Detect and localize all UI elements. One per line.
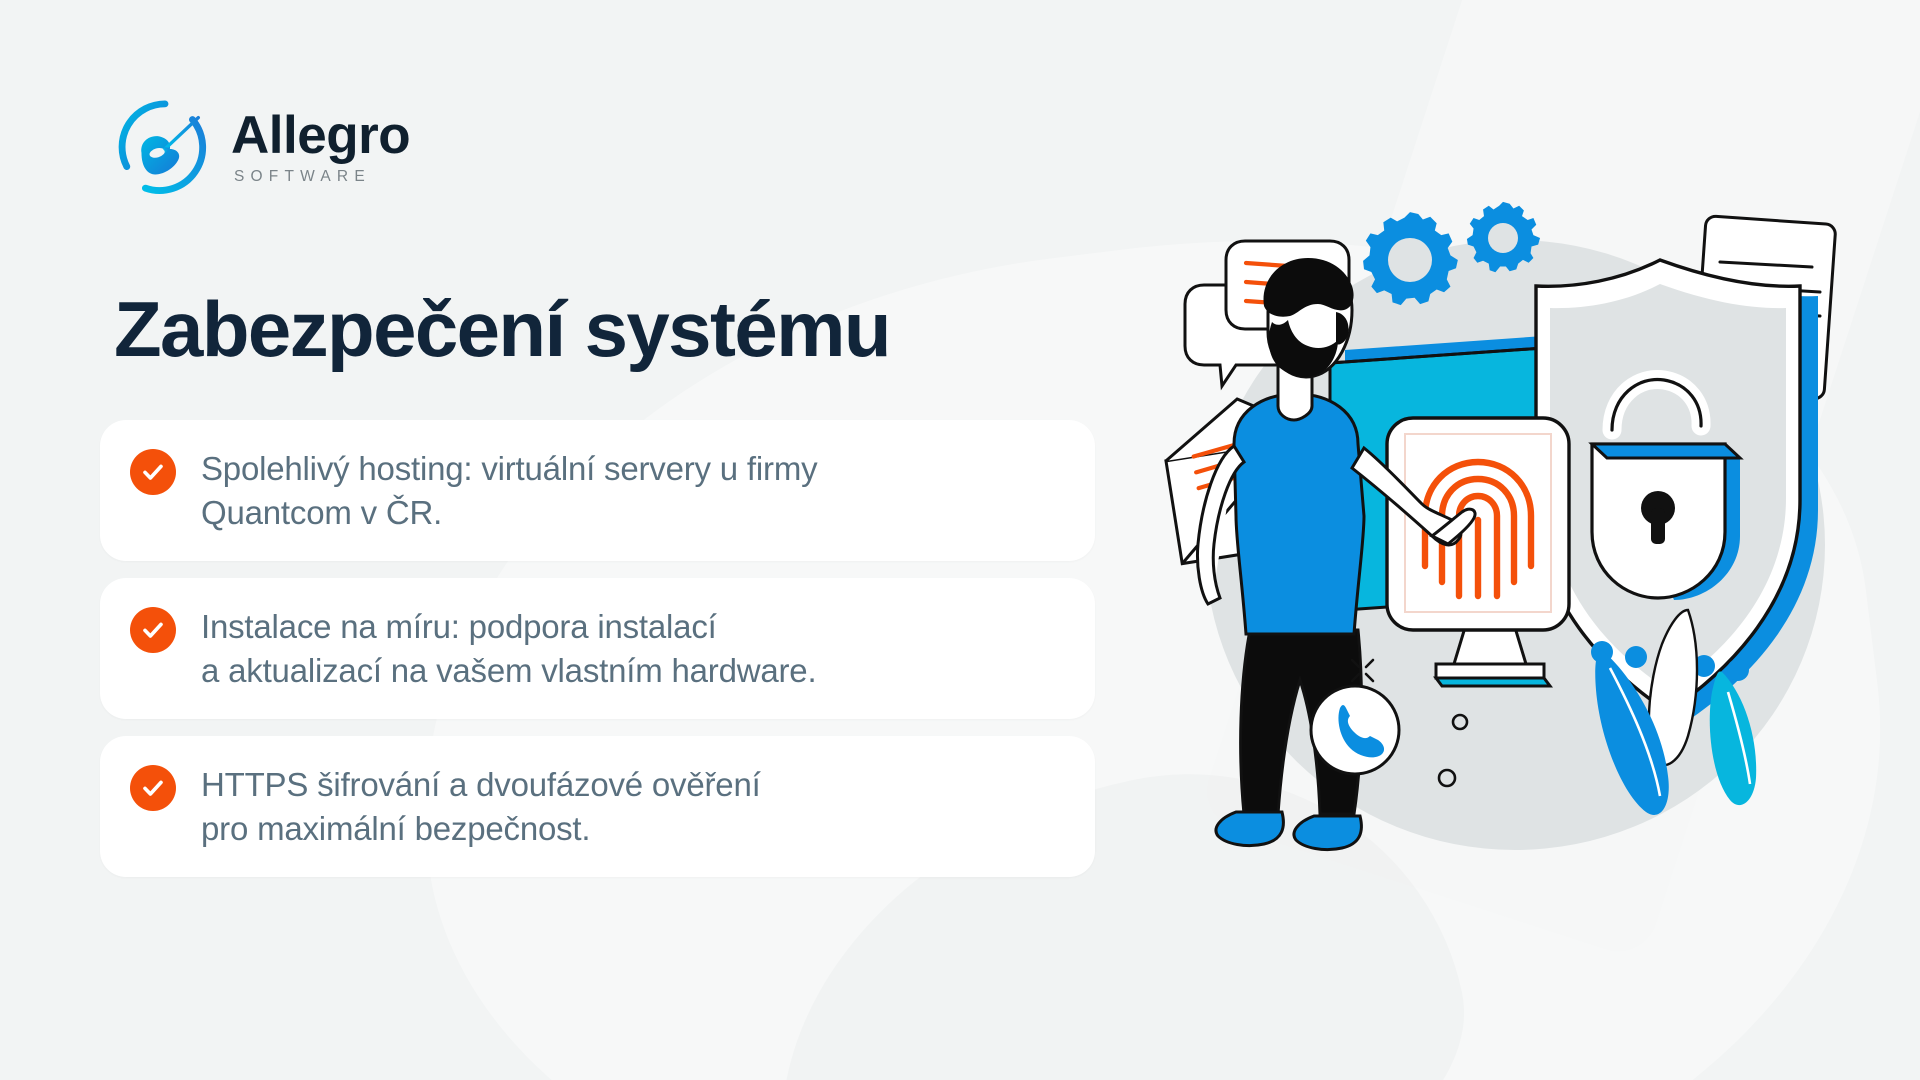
poster-canvas: Allegro SOFTWARE Zabezpečení systému Spo…: [0, 0, 1920, 1080]
logo-wordmark: Allegro SOFTWARE: [231, 109, 410, 185]
list-item-label: Spolehlivý hosting: virtuální servery u …: [201, 445, 817, 534]
logo-name: Allegro: [231, 109, 410, 162]
allegro-circle-pen-logo-icon: [116, 98, 214, 196]
brand-logo[interactable]: Allegro SOFTWARE: [116, 98, 410, 196]
phone-circle-icon: [1311, 686, 1399, 774]
check-circle-icon: [130, 449, 176, 495]
list-item-label: Instalace na míru: podpora instalací a a…: [201, 603, 816, 692]
list-item: HTTPS šifrování a dvoufázové ověření pro…: [100, 736, 1095, 877]
security-system-illustration: [1140, 200, 1880, 940]
list-item: Instalace na míru: podpora instalací a a…: [100, 578, 1095, 719]
check-circle-icon: [130, 765, 176, 811]
logo-subtitle: SOFTWARE: [234, 169, 410, 185]
list-item: Spolehlivý hosting: virtuální servery u …: [100, 420, 1095, 561]
list-item-label: HTTPS šifrování a dvoufázové ověření pro…: [201, 761, 761, 850]
check-circle-icon: [130, 607, 176, 653]
fingerprint-card-icon: [1387, 418, 1569, 630]
feature-list: Spolehlivý hosting: virtuální servery u …: [100, 420, 1095, 877]
page-title: Zabezpečení systému: [114, 290, 890, 368]
